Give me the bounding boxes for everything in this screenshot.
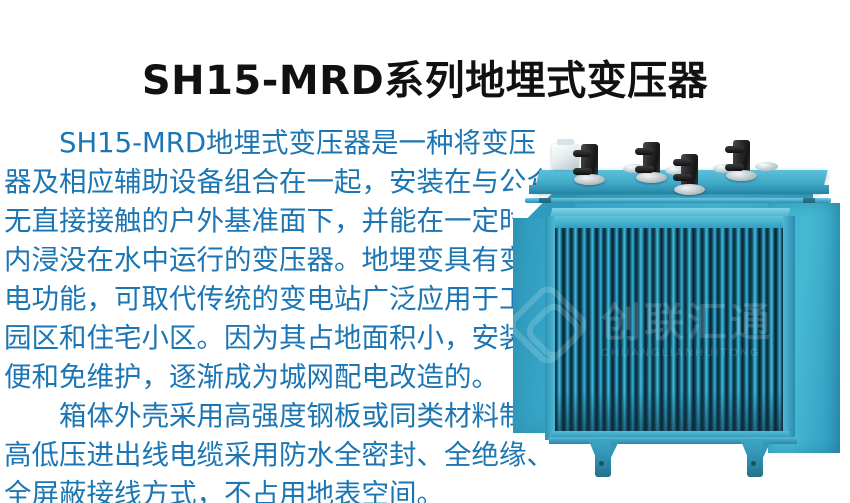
radiator-fin [767, 228, 775, 433]
paragraph-line: 园区和住宅小区。因为其占地面积小，安装方 [4, 319, 508, 358]
paragraph-line: 器及相应辅助设备组合在一起，安装在与公众 [4, 163, 508, 202]
bushing-arm [725, 146, 744, 153]
description-text-block: SH15-MRD地埋式变压器是一种将变压 器及相应辅助设备组合在一起，安装在与公… [4, 124, 508, 503]
radiator-fin [718, 228, 726, 433]
bushing-arm [725, 164, 744, 171]
paragraph-line: 无直接接触的户外基准面下，并能在一定时段 [4, 202, 508, 241]
radiator-fin [620, 228, 628, 433]
bushing-flange [755, 162, 778, 171]
radiator-fin [653, 228, 661, 433]
radiator-fin [596, 228, 604, 433]
paragraph-line: 便和免维护，逐渐成为城网配电改造的。 [4, 358, 508, 397]
paragraph-line: SH15-MRD地埋式变压器是一种将变压 [4, 124, 508, 163]
radiator-fin [677, 228, 685, 433]
radiator-fin [612, 228, 620, 433]
radiator-fin [636, 228, 644, 433]
radiator-fin [742, 228, 750, 433]
radiator-fin [555, 228, 563, 433]
bushing-arm [673, 159, 692, 166]
radiator-fin [645, 228, 653, 433]
support-foot [747, 439, 763, 477]
radiator-fin [750, 228, 758, 433]
bushing-arm [673, 174, 692, 181]
rail-marker [539, 198, 551, 203]
radiator-fin [775, 228, 783, 433]
radiator-right-cap [783, 216, 795, 440]
radiator-fin [685, 228, 693, 433]
radiator-fin [563, 228, 571, 433]
radiator-fin [661, 228, 669, 433]
slide-canvas: SH15-MRD系列地埋式变压器 SH15-MRD地埋式变压器是一种将变压 器及… [0, 0, 850, 503]
radiator-fin-pack [555, 228, 783, 433]
radiator-fin [669, 228, 677, 433]
lid-support-rail [525, 198, 831, 203]
paragraph-line: 箱体外壳采用高强度钢板或同类材料制作 [4, 397, 508, 436]
radiator-fin [710, 228, 718, 433]
radiator-fin [693, 228, 701, 433]
support-foot [595, 439, 611, 477]
radiator-fin [571, 228, 579, 433]
radiator-fin [628, 228, 636, 433]
paragraph-line: 电功能，可取代传统的变电站广泛应用于工业 [4, 280, 508, 319]
radiator-fin [604, 228, 612, 433]
paragraph-line: 全屏蔽接线方式，不占用地表空间。 [4, 475, 508, 503]
bushing-arm [573, 150, 592, 157]
bushing-arm [635, 148, 654, 155]
paragraph-line: 高低压进出线电缆采用防水全密封、全绝缘、 [4, 436, 508, 475]
radiator-fin [726, 228, 734, 433]
radiator-fin [588, 228, 596, 433]
radiator-fin [759, 228, 767, 433]
rail-marker [803, 198, 815, 203]
bushing-arm [635, 166, 654, 173]
radiator-fin [734, 228, 742, 433]
radiator-fin [702, 228, 710, 433]
radiator-left-cap [545, 216, 555, 440]
paragraph-line: 内浸没在水中运行的变压器。地埋变具有变配 [4, 241, 508, 280]
bushing-arm [573, 168, 592, 175]
page-title: SH15-MRD系列地埋式变压器 [0, 48, 850, 106]
radiator-fin [579, 228, 587, 433]
transformer-product-image: 创联汇通 CHUANGLIANHUITONG [505, 128, 850, 503]
